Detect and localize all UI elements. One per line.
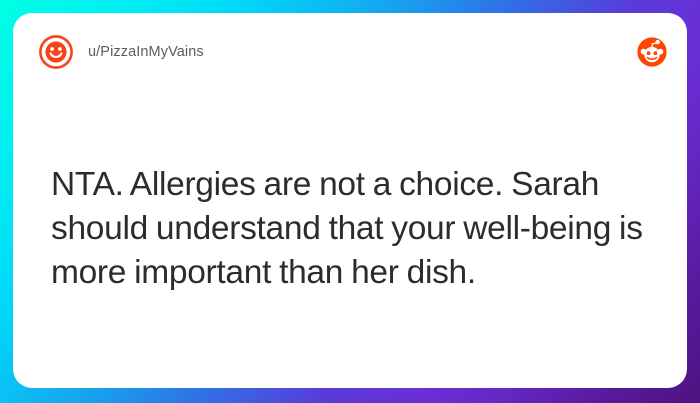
post-body-text: NTA. Allergies are not a choice. Sarah s… <box>51 163 665 295</box>
card-header: u/PizzaInMyVains <box>13 13 687 91</box>
avatar[interactable] <box>38 34 74 70</box>
smiley-face-avatar-icon <box>38 34 74 70</box>
reddit-snoo-logo-icon[interactable] <box>637 37 667 67</box>
reddit-comment-card: u/PizzaInMyVains NTA. Allergies are not … <box>13 13 687 388</box>
username-label[interactable]: u/PizzaInMyVains <box>88 44 204 60</box>
screenshot-canvas: u/PizzaInMyVains NTA. Allergies are not … <box>0 0 700 403</box>
